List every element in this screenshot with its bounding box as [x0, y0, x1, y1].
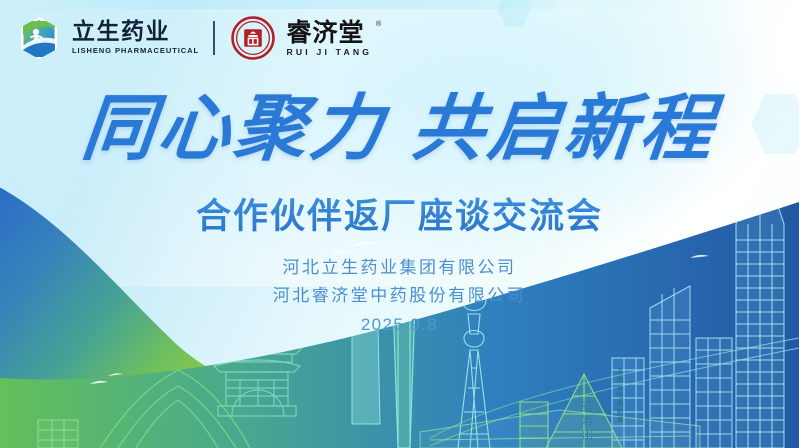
organization-name: 河北睿济堂中药股份有限公司 — [0, 283, 799, 311]
event-date: 2025.9.8 — [0, 315, 799, 335]
hexagon-shape — [665, 0, 719, 20]
ruijitang-name-cn: 睿济堂 — [287, 20, 373, 45]
lisheng-name-en: LISHENG PHARMACEUTICAL — [72, 47, 199, 54]
vertical-divider-icon — [213, 21, 215, 55]
main-title: 同心聚力共启新程 — [0, 92, 799, 164]
ruijitang-wordmark: 睿济堂 ® RUI JI TANG — [287, 20, 373, 57]
lisheng-hexagon-logo-icon — [18, 16, 60, 60]
hexagon-shape — [497, 0, 531, 28]
main-title-part1: 同心聚力 — [78, 85, 391, 170]
tower-inscription-label: 革命圣地西柏坡 — [614, 368, 624, 424]
skyscraper-cluster-icon — [612, 286, 732, 448]
main-title-part2: 共启新程 — [408, 85, 721, 170]
organization-name: 河北立生药业集团有限公司 — [0, 255, 799, 283]
hexagon-shape — [585, 36, 627, 84]
hexagon-shape — [725, 14, 787, 84]
logo-bar: 立生药业 LISHENG PHARMACEUTICAL 睿济堂 ® RUI JI… — [18, 16, 372, 60]
low-rise-roofs — [420, 410, 700, 448]
lisheng-name-cn: 立生药业 — [72, 21, 197, 44]
organization-list: 河北立生药业集团有限公司 河北睿济堂中药股份有限公司 — [0, 255, 799, 310]
mountain-outline — [100, 370, 250, 448]
left-building-icon — [38, 420, 78, 448]
cangyanshan-rock-marker — [352, 322, 380, 424]
registered-mark-icon: ® — [376, 21, 381, 28]
ruijitang-name-en: RUI JI TANG — [287, 48, 373, 57]
event-subtitle: 合作伙伴返厂座谈交流会 — [0, 188, 799, 239]
ruijitang-round-seal-icon — [231, 16, 275, 60]
pyramid-building-icon — [520, 374, 622, 448]
lisheng-wordmark: 立生药业 LISHENG PHARMACEUTICAL — [72, 21, 197, 54]
event-banner: 立生药业 LISHENG PHARMACEUTICAL 睿济堂 ® RUI JI… — [0, 0, 799, 448]
cangyanshan-label: 苍岩山 — [579, 400, 596, 442]
hexagon-shape — [549, 0, 595, 18]
